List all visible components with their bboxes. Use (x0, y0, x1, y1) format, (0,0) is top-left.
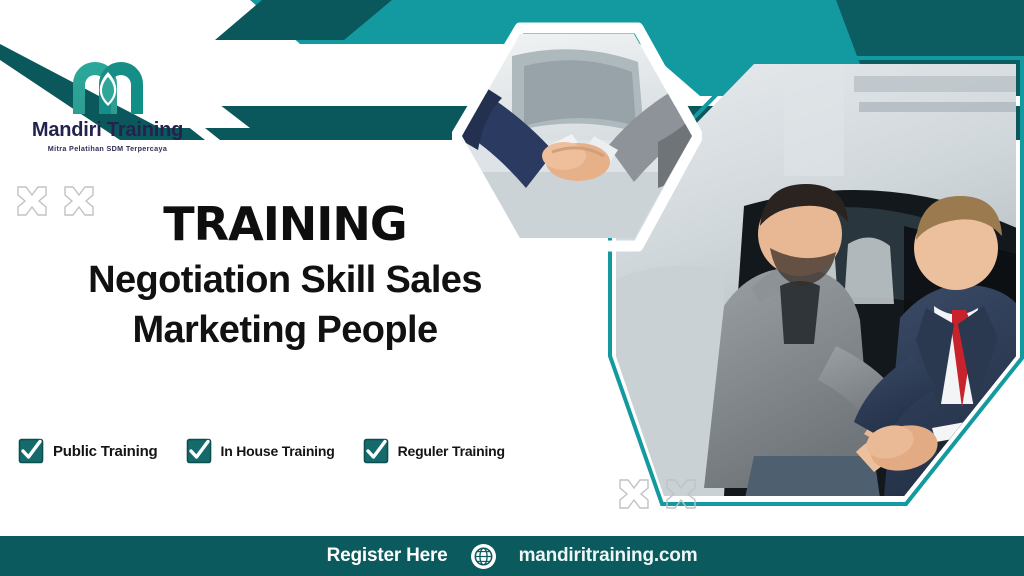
checkbox-checked-icon[interactable] (18, 438, 44, 464)
training-option-label: Reguler Training (398, 443, 505, 459)
page-kicker: TRAINING (0, 197, 570, 251)
page-title-line1: Negotiation Skill Sales (0, 255, 570, 305)
brand-logo[interactable]: Mandiri Training Mitra Pelatihan SDM Ter… (20, 58, 195, 153)
x-cross-icon (614, 476, 654, 512)
footer-bar: Register Here mandiritraining.com (0, 536, 1024, 576)
training-option-reguler[interactable]: Reguler Training (363, 438, 505, 464)
website-url[interactable]: mandiritraining.com (519, 545, 698, 567)
training-options-list: Public Training In House Training Regule… (18, 438, 505, 464)
brand-name: Mandiri Training (20, 120, 195, 141)
poster-canvas: Mandiri Training Mitra Pelatihan SDM Ter… (0, 0, 1024, 576)
register-here-label[interactable]: Register Here (327, 545, 448, 567)
training-option-label: In House Training (221, 443, 335, 459)
x-decoration-middle (614, 476, 701, 512)
x-cross-icon (661, 476, 701, 512)
mandiri-m-leaf-logo-icon (69, 58, 147, 116)
checkbox-checked-icon[interactable] (186, 438, 212, 464)
page-title: Negotiation Skill Sales Marketing People (0, 255, 570, 355)
training-option-label: Public Training (53, 443, 158, 460)
checkbox-checked-icon[interactable] (363, 438, 389, 464)
brand-tagline: Mitra Pelatihan SDM Terpercaya (20, 144, 195, 153)
globe-icon (470, 543, 497, 570)
training-option-public[interactable]: Public Training (18, 438, 158, 464)
training-option-in-house[interactable]: In House Training (186, 438, 335, 464)
page-title-line2: Marketing People (0, 305, 570, 355)
